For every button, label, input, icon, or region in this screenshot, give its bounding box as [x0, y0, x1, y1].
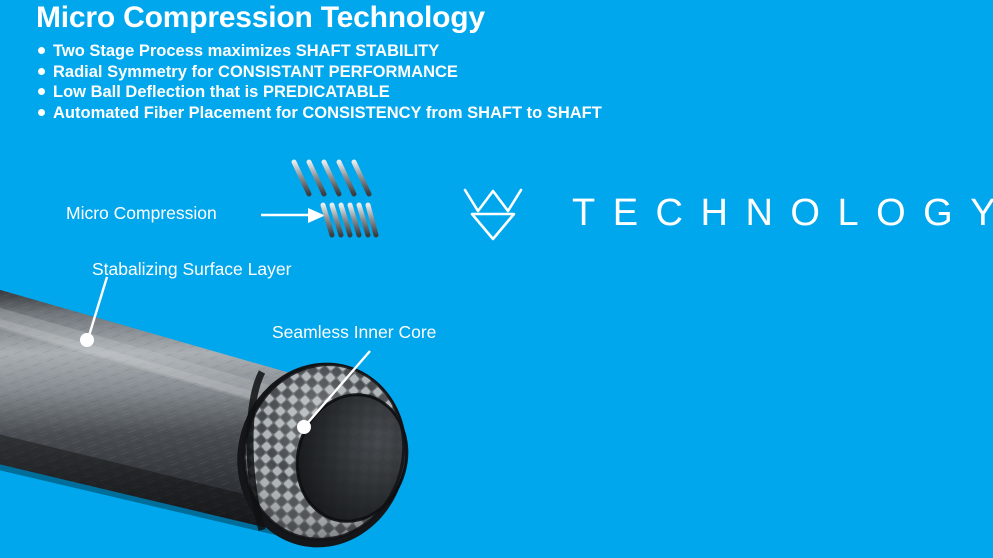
page-title: Micro Compression Technology	[36, 2, 485, 34]
feature-list: Two Stage Process maximizes SHAFT STABIL…	[38, 41, 602, 123]
list-item: Radial Symmetry for CONSISTANT PERFORMAN…	[38, 62, 602, 83]
list-item-label: Low Ball Deflection that is PREDICATABLE	[53, 82, 390, 103]
bullet-dot-icon	[38, 47, 45, 54]
list-item: Low Ball Deflection that is PREDICATABLE	[38, 82, 602, 103]
spring-uncompressed	[288, 156, 380, 200]
slide-canvas: Micro Compression Technology Two Stage P…	[0, 0, 993, 558]
bullet-dot-icon	[38, 109, 45, 116]
leader-surface-layer	[80, 277, 107, 347]
list-item: Two Stage Process maximizes SHAFT STABIL…	[38, 41, 602, 62]
chevron-w-triangle-logo-icon	[462, 184, 524, 242]
spring-compressed	[318, 200, 382, 240]
bullet-dot-icon	[38, 68, 45, 75]
bullet-dot-icon	[38, 88, 45, 95]
list-item: Automated Fiber Placement for CONSISTENC…	[38, 103, 602, 124]
brand-wordmark: TECHNOLOGY	[572, 192, 993, 235]
leader-inner-core	[297, 351, 370, 434]
callout-seamless-inner-core: Seamless Inner Core	[272, 322, 436, 343]
list-item-label: Automated Fiber Placement for CONSISTENC…	[53, 103, 602, 124]
brand-lockup: TECHNOLOGY	[462, 184, 993, 242]
list-item-label: Two Stage Process maximizes SHAFT STABIL…	[53, 41, 439, 62]
callout-micro-compression: Micro Compression	[66, 203, 217, 224]
spring-diagram	[286, 155, 386, 245]
callout-stabalizing-surface-layer: Stabalizing Surface Layer	[92, 259, 291, 280]
list-item-label: Radial Symmetry for CONSISTANT PERFORMAN…	[53, 62, 458, 83]
